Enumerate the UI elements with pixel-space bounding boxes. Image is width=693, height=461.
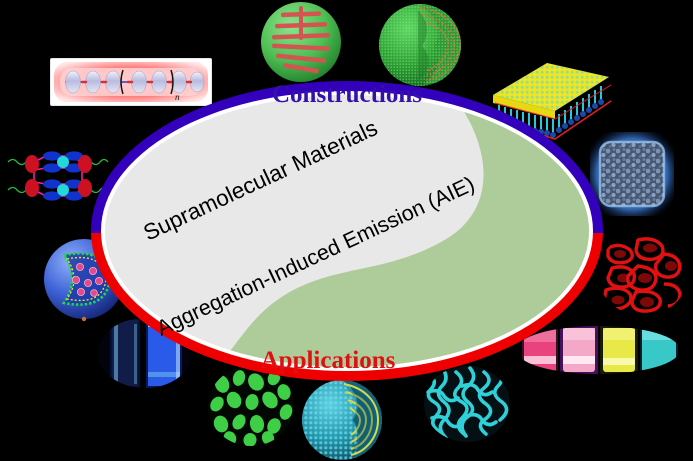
- hub-diagram: Constructions Applications Supramolecula…: [88, 78, 606, 384]
- vesicle-cutaway-icon: [372, 0, 478, 86]
- central-hub: Constructions Applications Supramolecula…: [88, 78, 606, 384]
- striped-sphere-icon: [259, 0, 343, 84]
- hub-bottom-label: Applications: [261, 347, 396, 374]
- figure-canvas: n: [0, 0, 693, 461]
- satellite-multilamellar-onion-vesicle: [299, 376, 387, 461]
- onion-vesicle-icon: [299, 376, 387, 461]
- satellite-green-vesicle-cutaway: [372, 0, 478, 86]
- hub-top-label: Constructions: [272, 81, 422, 108]
- satellite-red-fluorescence-cell-image: [598, 232, 688, 316]
- red-cell-image-icon: [598, 232, 688, 316]
- satellite-striped-nanoparticle: [259, 0, 343, 84]
